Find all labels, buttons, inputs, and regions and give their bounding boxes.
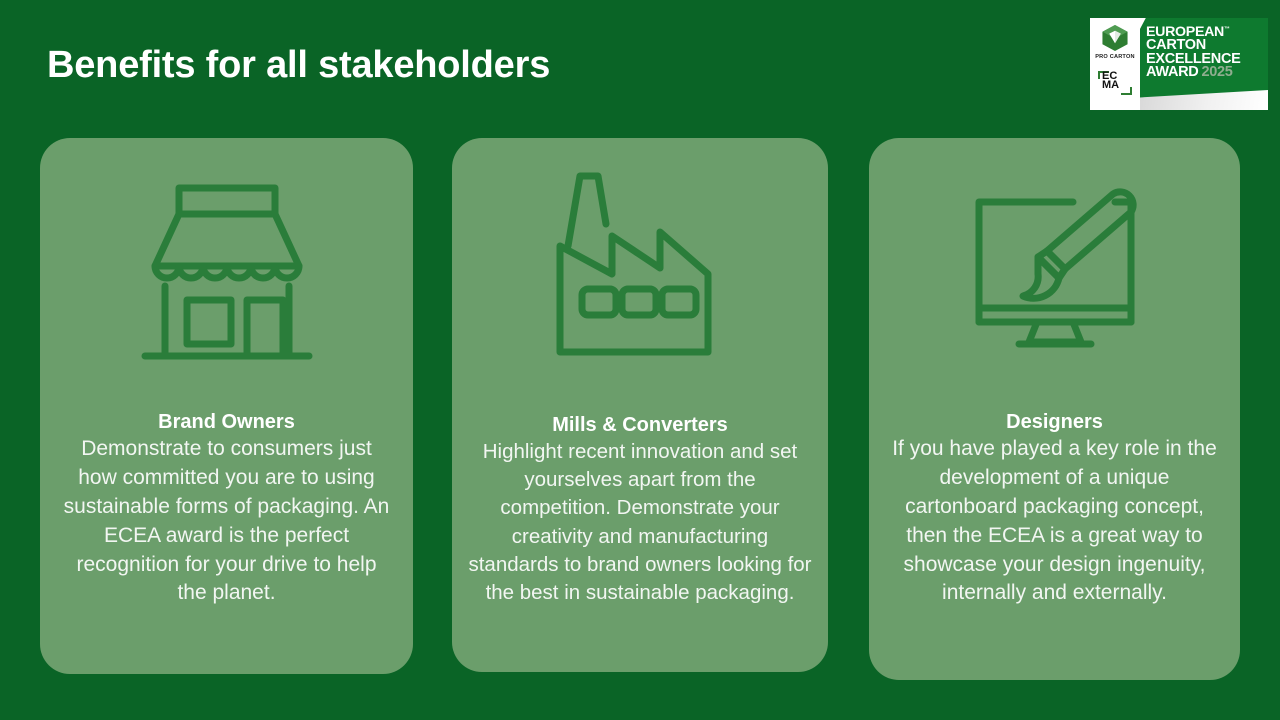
monitor-paintbrush-icon [965,186,1145,366]
storefront-icon [137,170,317,375]
card-heading: Designers [879,410,1230,434]
card-icon-wrap [452,164,828,379]
ecma-logo: ECMA [1097,70,1133,96]
card-heading: Brand Owners [50,410,403,434]
card-heading: Mills & Converters [462,413,818,437]
logo-wordmark: EUROPEAN™ CARTON EXCELLENCE AWARD 2025 [1146,26,1268,80]
logo-award-word: AWARD [1146,66,1198,79]
award-logo: PRO CARTON ECMA EUROPEAN™ CARTON EXCELLE… [1090,18,1268,110]
pro-carton-cube-icon [1100,24,1130,52]
card-mills-converters: Mills & Converters Highlight recent inno… [452,138,828,672]
card-icon-wrap [869,186,1240,366]
pro-carton-wordmark: PRO CARTON [1095,54,1135,60]
card-designers: Designers If you have played a key role … [869,138,1240,680]
trademark-symbol: ™ [1224,26,1230,32]
factory-icon [550,164,730,379]
card-text: Highlight recent innovation and set your… [462,438,818,607]
card-body: Mills & Converters Highlight recent inno… [462,413,818,607]
card-brand-owners: Brand Owners Demonstrate to consumers ju… [40,138,413,674]
logo-year: 2025 [1201,66,1232,79]
card-text: Demonstrate to consumers just how commit… [50,435,403,608]
logo-left-column: PRO CARTON ECMA [1090,18,1140,110]
ecma-letters: ECMA [1102,72,1119,91]
logo-line-award: AWARD 2025 [1146,66,1268,79]
card-icon-wrap [40,170,413,375]
card-text: If you have played a key role in the dev… [879,435,1230,608]
slide-canvas: Benefits for all stakeholders PRO CARTON [0,0,1280,720]
page-title: Benefits for all stakeholders [47,44,550,87]
card-body: Brand Owners Demonstrate to consumers ju… [50,410,403,608]
card-body: Designers If you have played a key role … [879,410,1230,608]
